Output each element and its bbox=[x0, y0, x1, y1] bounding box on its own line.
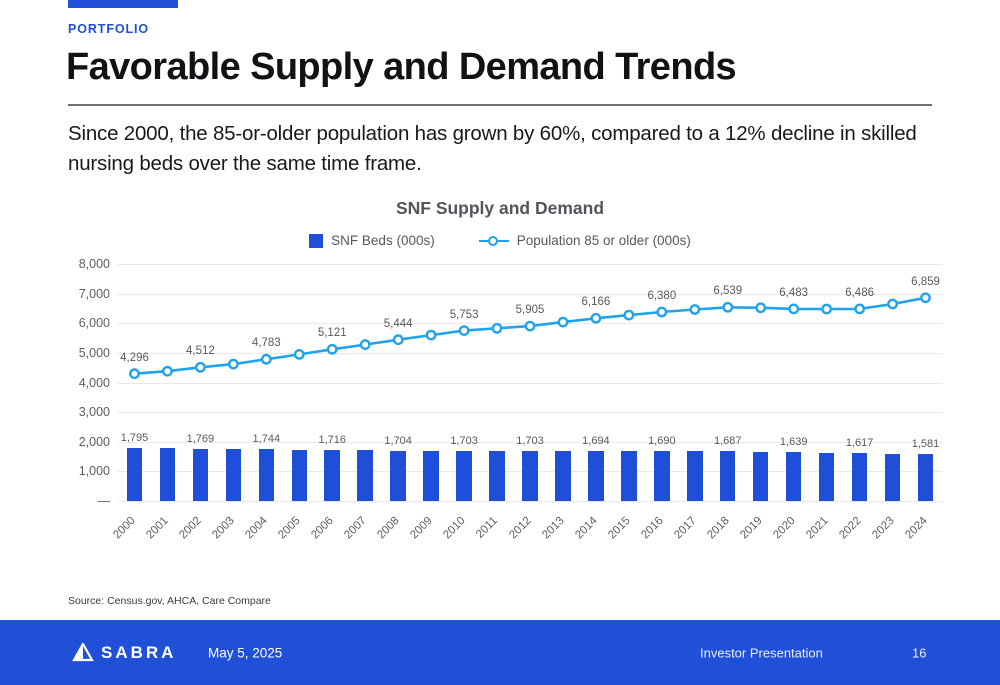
bar-2002[interactable] bbox=[193, 449, 208, 501]
bar-2012[interactable] bbox=[522, 451, 537, 501]
legend-item-line[interactable]: Population 85 or older (000s) bbox=[479, 233, 691, 248]
line-value-label: 5,444 bbox=[384, 318, 413, 330]
bar-2016[interactable] bbox=[654, 451, 669, 501]
line-point-2019[interactable] bbox=[757, 304, 765, 312]
line-point-2010[interactable] bbox=[460, 326, 468, 334]
legend-label-bars: SNF Beds (000s) bbox=[331, 233, 435, 248]
footer-page-number: 16 bbox=[912, 645, 926, 660]
legend-item-bars[interactable]: SNF Beds (000s) bbox=[309, 233, 435, 248]
bar-2003[interactable] bbox=[226, 449, 241, 501]
bar-2008[interactable] bbox=[390, 451, 405, 501]
x-axis-tick: 2020 bbox=[771, 515, 798, 542]
line-point-2006[interactable] bbox=[328, 345, 336, 353]
bar-value-label: 1,744 bbox=[253, 433, 281, 445]
line-point-2016[interactable] bbox=[658, 308, 666, 316]
brand-logo-text: SABRA bbox=[101, 643, 176, 663]
bar-2006[interactable] bbox=[324, 450, 339, 501]
bar-value-label: 1,769 bbox=[187, 433, 215, 445]
legend-bar-swatch-icon bbox=[309, 234, 323, 248]
y-axis-tick: 7,000 bbox=[79, 287, 110, 301]
bar-2007[interactable] bbox=[357, 450, 372, 501]
line-point-2022[interactable] bbox=[855, 305, 863, 313]
x-axis-tick: 2012 bbox=[507, 515, 534, 542]
line-point-2018[interactable] bbox=[724, 303, 732, 311]
x-axis-tick: 2003 bbox=[211, 515, 238, 542]
y-axis-labels: 8,0007,0006,0005,0004,0003,0002,0001,000… bbox=[64, 264, 110, 501]
x-axis-tick: 2005 bbox=[277, 515, 304, 542]
line-point-2007[interactable] bbox=[361, 340, 369, 348]
bar-value-label: 1,704 bbox=[384, 435, 412, 447]
x-axis-tick: 2002 bbox=[178, 515, 205, 542]
bar-value-label: 1,703 bbox=[516, 435, 544, 447]
line-value-label: 5,121 bbox=[318, 327, 347, 339]
x-axis-tick: 2019 bbox=[738, 515, 765, 542]
line-point-2012[interactable] bbox=[526, 322, 534, 330]
y-axis-tick: 6,000 bbox=[79, 316, 110, 330]
slide: PORTFOLIO Favorable Supply and Demand Tr… bbox=[0, 0, 1000, 685]
chart-legend: SNF Beds (000s) Population 85 or older (… bbox=[0, 233, 1000, 248]
x-axis-tick: 2004 bbox=[244, 515, 271, 542]
line-point-2002[interactable] bbox=[196, 363, 204, 371]
y-axis-tick: — bbox=[98, 494, 111, 508]
bar-value-label: 1,581 bbox=[912, 438, 940, 450]
x-axis-tick: 2009 bbox=[408, 515, 435, 542]
line-value-label: 6,483 bbox=[779, 287, 808, 299]
legend-label-line: Population 85 or older (000s) bbox=[517, 233, 691, 248]
x-axis-tick: 2024 bbox=[903, 515, 930, 542]
line-point-2020[interactable] bbox=[790, 305, 798, 313]
y-axis-tick: 8,000 bbox=[79, 257, 110, 271]
chart-container: SNF Supply and Demand SNF Beds (000s) Po… bbox=[0, 198, 1000, 558]
y-axis-tick: 1,000 bbox=[79, 464, 110, 478]
line-value-label: 6,380 bbox=[647, 290, 676, 302]
line-value-label: 6,859 bbox=[911, 276, 940, 288]
line-value-label: 5,905 bbox=[516, 304, 545, 316]
line-point-2013[interactable] bbox=[559, 318, 567, 326]
x-axis-tick: 2022 bbox=[837, 515, 864, 542]
x-axis-tick: 2017 bbox=[672, 515, 699, 542]
line-point-2011[interactable] bbox=[493, 324, 501, 332]
line-value-label: 4,512 bbox=[186, 345, 215, 357]
bar-2021[interactable] bbox=[819, 453, 834, 501]
footer-bar: SABRA May 5, 2025 Investor Presentation … bbox=[0, 620, 1000, 685]
eyebrow-label: PORTFOLIO bbox=[68, 22, 149, 36]
line-point-2014[interactable] bbox=[592, 314, 600, 322]
y-axis-tick: 2,000 bbox=[79, 435, 110, 449]
bar-2013[interactable] bbox=[555, 451, 570, 501]
subtitle-text: Since 2000, the 85-or-older population h… bbox=[68, 119, 938, 179]
line-point-2004[interactable] bbox=[262, 355, 270, 363]
line-value-label: 5,753 bbox=[450, 309, 479, 321]
title-divider bbox=[68, 104, 932, 106]
bar-value-label: 1,687 bbox=[714, 435, 742, 447]
bar-2010[interactable] bbox=[456, 451, 471, 501]
x-axis-tick: 2007 bbox=[342, 515, 369, 542]
line-point-2023[interactable] bbox=[888, 300, 896, 308]
bar-2014[interactable] bbox=[588, 451, 603, 501]
x-axis-tick: 2021 bbox=[804, 515, 831, 542]
x-axis-tick: 2015 bbox=[606, 515, 633, 542]
x-axis-tick: 2016 bbox=[639, 515, 666, 542]
line-value-label: 4,783 bbox=[252, 337, 281, 349]
y-axis-tick: 5,000 bbox=[79, 346, 110, 360]
x-axis-labels: 2000200120022003200420052006200720082009… bbox=[118, 505, 942, 555]
bar-value-label: 1,690 bbox=[648, 435, 676, 447]
line-point-2021[interactable] bbox=[822, 305, 830, 313]
bar-value-label: 1,617 bbox=[846, 437, 874, 449]
plot-area: 1,7951,7691,7441,7161,7041,7031,7031,694… bbox=[118, 264, 942, 501]
line-point-2015[interactable] bbox=[625, 311, 633, 319]
line-point-2024[interactable] bbox=[921, 294, 929, 302]
line-point-2000[interactable] bbox=[130, 370, 138, 378]
bar-2019[interactable] bbox=[753, 452, 768, 501]
bar-2017[interactable] bbox=[687, 451, 702, 501]
line-point-2009[interactable] bbox=[427, 331, 435, 339]
x-axis-tick: 2000 bbox=[112, 515, 139, 542]
line-point-2008[interactable] bbox=[394, 336, 402, 344]
line-value-label: 6,539 bbox=[713, 285, 742, 297]
line-value-label: 6,166 bbox=[582, 296, 611, 308]
bar-value-label: 1,639 bbox=[780, 436, 808, 448]
bar-2011[interactable] bbox=[489, 451, 504, 501]
x-axis-tick: 2008 bbox=[375, 515, 402, 542]
line-value-label: 4,296 bbox=[120, 352, 149, 364]
x-axis-tick: 2001 bbox=[145, 515, 172, 542]
bar-2000[interactable] bbox=[127, 448, 142, 501]
bar-2001[interactable] bbox=[160, 448, 175, 501]
x-axis-tick: 2006 bbox=[309, 515, 336, 542]
bar-2018[interactable] bbox=[720, 451, 735, 501]
bar-2020[interactable] bbox=[786, 452, 801, 501]
line-point-2003[interactable] bbox=[229, 360, 237, 368]
x-axis-tick: 2013 bbox=[540, 515, 567, 542]
bar-2023[interactable] bbox=[885, 454, 900, 501]
chart-title: SNF Supply and Demand bbox=[0, 198, 1000, 219]
bar-2022[interactable] bbox=[852, 453, 867, 501]
accent-bar bbox=[68, 0, 178, 8]
sabra-triangle-icon bbox=[72, 643, 94, 663]
bar-2005[interactable] bbox=[292, 450, 307, 501]
x-axis-tick: 2011 bbox=[474, 515, 500, 541]
line-point-2005[interactable] bbox=[295, 350, 303, 358]
gridline bbox=[118, 501, 942, 502]
bar-value-label: 1,703 bbox=[450, 435, 478, 447]
line-value-label: 6,486 bbox=[845, 287, 874, 299]
bar-2024[interactable] bbox=[918, 454, 933, 501]
y-axis-tick: 4,000 bbox=[79, 376, 110, 390]
line-point-2001[interactable] bbox=[163, 367, 171, 375]
x-axis-tick: 2023 bbox=[870, 515, 897, 542]
bar-value-label: 1,795 bbox=[121, 432, 149, 444]
line-point-2017[interactable] bbox=[691, 305, 699, 313]
y-axis-tick: 3,000 bbox=[79, 405, 110, 419]
brand-logo[interactable]: SABRA bbox=[72, 643, 176, 663]
footer-center-label: Investor Presentation bbox=[700, 645, 823, 660]
bar-2009[interactable] bbox=[423, 451, 438, 501]
bar-2015[interactable] bbox=[621, 451, 636, 501]
source-note: Source: Census.gov, AHCA, Care Compare bbox=[68, 595, 271, 607]
bar-2004[interactable] bbox=[259, 449, 274, 501]
page-title: Favorable Supply and Demand Trends bbox=[66, 46, 736, 89]
legend-line-swatch-icon bbox=[479, 235, 509, 247]
bar-value-label: 1,716 bbox=[318, 434, 346, 446]
bar-value-label: 1,694 bbox=[582, 435, 610, 447]
x-axis-tick: 2018 bbox=[705, 515, 732, 542]
x-axis-tick: 2014 bbox=[573, 515, 600, 542]
footer-date: May 5, 2025 bbox=[208, 645, 282, 660]
x-axis-tick: 2010 bbox=[441, 515, 468, 542]
